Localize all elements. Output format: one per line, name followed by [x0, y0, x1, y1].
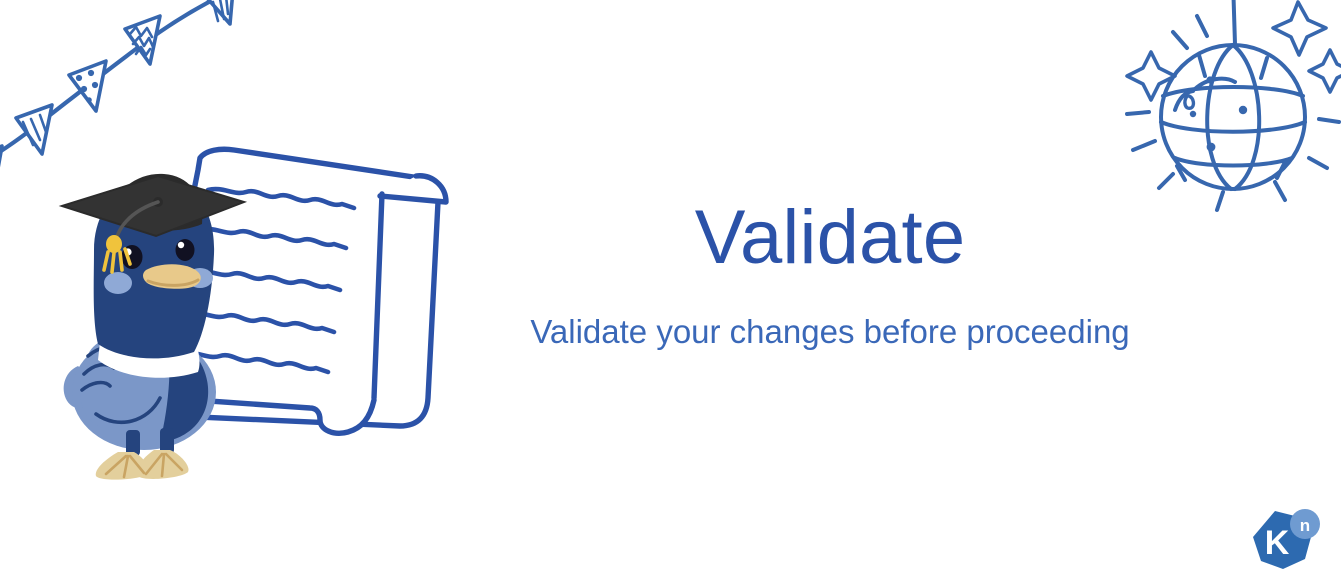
kn-brand-logo[interactable]: K n	[1245, 507, 1323, 577]
hero-text-block: Validate Validate your changes before pr…	[480, 200, 1180, 352]
page-title: Validate	[480, 200, 1180, 276]
graduate-bird-illustration	[48, 130, 468, 480]
logo-letter-n: n	[1300, 516, 1310, 535]
page-subtitle: Validate your changes before proceeding	[480, 312, 1180, 352]
slide-canvas: Validate Validate your changes before pr…	[0, 0, 1341, 585]
logo-letter-k: K	[1265, 524, 1290, 562]
disco-ball-icon	[1115, 0, 1341, 227]
